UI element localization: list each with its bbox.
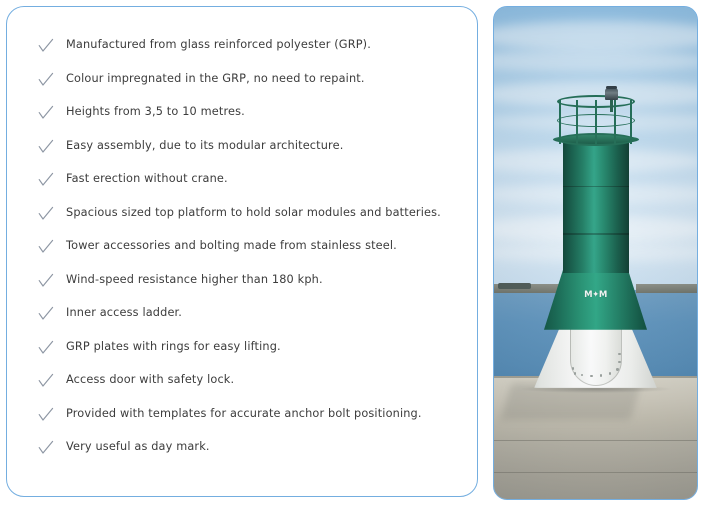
feature-item: Access door with safety lock.	[7, 372, 477, 406]
feature-item: Wind-speed resistance higher than 180 kp…	[7, 272, 477, 306]
tower-photo-panel: M✦M	[493, 6, 698, 500]
green-cylindrical-tower-body	[563, 141, 629, 273]
lantern-mast	[610, 98, 613, 112]
brand-mark: M✦M	[584, 290, 607, 300]
check-mark-icon	[38, 38, 54, 54]
feature-item: Fast erection without crane.	[7, 171, 477, 205]
quay-seam	[494, 472, 697, 474]
feature-item: Colour impregnated in the GRP, no need t…	[7, 71, 477, 105]
quay-seam	[494, 440, 697, 442]
lantern-cap	[606, 86, 617, 89]
cloud-streak	[494, 50, 697, 72]
check-mark-icon	[38, 72, 54, 88]
feature-item-label: Manufactured from glass reinforced polye…	[66, 37, 477, 52]
feature-item: Spacious sized top platform to hold sola…	[7, 205, 477, 239]
check-mark-icon	[38, 206, 54, 222]
check-mark-icon	[38, 440, 54, 456]
check-mark-icon	[38, 239, 54, 255]
check-mark-icon	[38, 273, 54, 289]
feature-item: Provided with templates for accurate anc…	[7, 406, 477, 440]
check-mark-icon	[38, 407, 54, 423]
feature-item: Heights from 3,5 to 10 metres.	[7, 104, 477, 138]
check-mark-icon	[38, 172, 54, 188]
features-list: Manufactured from glass reinforced polye…	[7, 37, 477, 473]
feature-item-label: Inner access ladder.	[66, 305, 477, 320]
feature-item-label: Easy assembly, due to its modular archit…	[66, 138, 477, 153]
feature-item: Easy assembly, due to its modular archit…	[7, 138, 477, 172]
check-mark-icon	[38, 306, 54, 322]
check-mark-icon	[38, 340, 54, 356]
feature-item-label: Fast erection without crane.	[66, 171, 477, 186]
check-mark-icon	[38, 105, 54, 121]
feature-item-label: Very useful as day mark.	[66, 439, 477, 454]
check-mark-icon	[38, 139, 54, 155]
door-bolt-row	[570, 337, 622, 377]
feature-item-label: Heights from 3,5 to 10 metres.	[66, 104, 477, 119]
feature-item: Very useful as day mark.	[7, 439, 477, 473]
lantern	[605, 88, 618, 100]
feature-item-label: GRP plates with rings for easy lifting.	[66, 339, 477, 354]
feature-item: Inner access ladder.	[7, 305, 477, 339]
check-mark-icon	[38, 373, 54, 389]
feature-item-label: Tower accessories and bolting made from …	[66, 238, 477, 253]
top-platform-railing	[557, 95, 635, 147]
feature-item-label: Access door with safety lock.	[66, 372, 477, 387]
feature-item: Tower accessories and bolting made from …	[7, 238, 477, 272]
cloud-streak	[494, 21, 697, 51]
feature-item: Manufactured from glass reinforced polye…	[7, 37, 477, 71]
feature-item-label: Spacious sized top platform to hold sola…	[66, 205, 477, 220]
concrete-quay	[494, 376, 697, 499]
tower-photograph: M✦M	[494, 7, 697, 499]
breakwater-right	[636, 284, 697, 293]
features-card: Manufactured from glass reinforced polye…	[6, 6, 478, 497]
feature-item-label: Provided with templates for accurate anc…	[66, 406, 477, 421]
feature-item: GRP plates with rings for easy lifting.	[7, 339, 477, 373]
feature-item-label: Colour impregnated in the GRP, no need t…	[66, 71, 477, 86]
distant-vessel	[498, 283, 530, 289]
feature-item-label: Wind-speed resistance higher than 180 kp…	[66, 272, 477, 287]
